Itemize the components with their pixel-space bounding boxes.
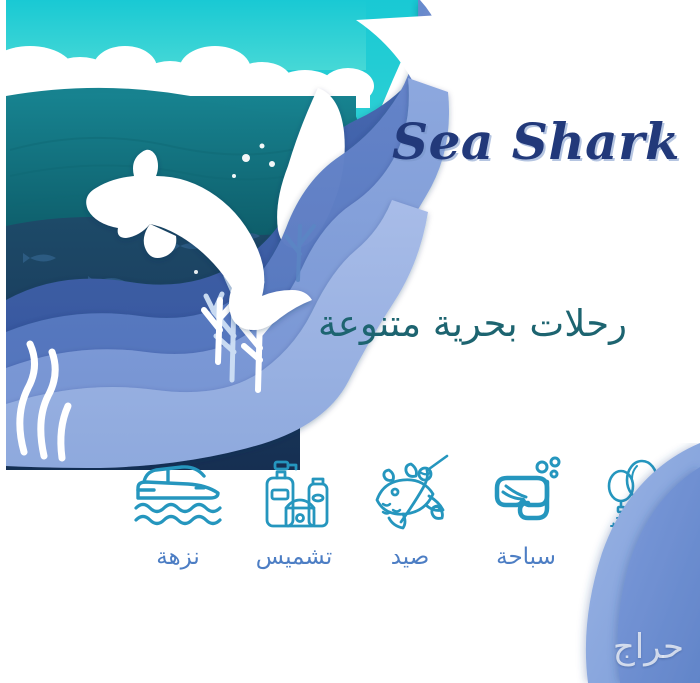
service-item-sunbathing[interactable]: تشميس xyxy=(236,452,352,612)
service-item-swimming[interactable]: سباحة xyxy=(468,452,584,612)
fishing-icon xyxy=(367,452,453,538)
service-item-fishing[interactable]: صيد xyxy=(352,452,468,612)
services-strip: حفلات سباحة xyxy=(0,452,700,612)
watermark: حراج xyxy=(613,627,684,667)
service-label: صيد xyxy=(391,544,430,570)
balloons-icon xyxy=(601,452,683,538)
tagline: رحلات بحرية متنوعة xyxy=(265,296,680,352)
service-label: حفلات xyxy=(611,544,672,570)
sunscreen-icon xyxy=(253,452,335,538)
service-label: سباحة xyxy=(496,544,556,570)
page-title: Sea Shark xyxy=(392,112,692,178)
snorkel-mask-icon xyxy=(485,452,567,538)
service-label: تشميس xyxy=(256,544,332,570)
service-label: نزهة xyxy=(156,544,200,570)
service-item-outing[interactable]: نزهة xyxy=(120,452,236,612)
ocean-illustration xyxy=(0,0,700,470)
service-item-parties[interactable]: حفلات xyxy=(584,452,700,612)
speedboat-icon xyxy=(132,452,224,538)
poster-canvas: Sea Shark رحلات بحرية متنوعة xyxy=(0,0,700,683)
